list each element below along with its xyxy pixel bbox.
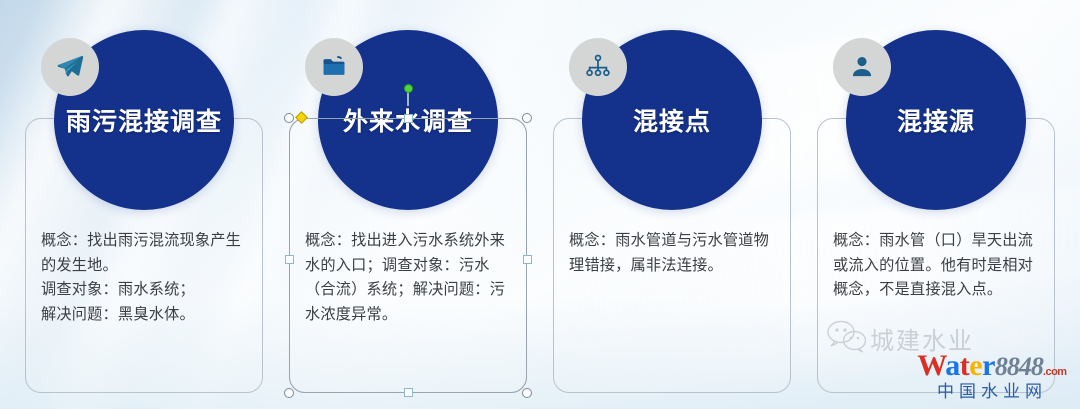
resize-handle-bottom-left[interactable] (284, 388, 294, 398)
card-body-text: 概念：找出雨污混流现象产生的发生地。 调查对象：雨水系统； 解决问题：黑臭水体。 (41, 228, 253, 327)
resize-handle-top-left[interactable] (284, 113, 294, 123)
card-body-text: 概念：雨水管（口）旱天出流或流入的位置。他有时是相对概念，不是直接混入点。 (833, 228, 1045, 302)
card-title: 混接源 (846, 102, 1026, 138)
user-icon (833, 38, 891, 96)
card-external-water-survey[interactable]: 外来水调查 概念：找出进入污水系统外来水的入口；调查对象：污水（合流）系统；解决… (283, 0, 533, 409)
resize-handle-bottom-right[interactable] (522, 388, 532, 398)
card-title: 混接点 (582, 102, 762, 138)
rotation-stem (407, 92, 408, 106)
card-row: 雨污混接调查 概念：找出雨污混流现象产生的发生地。 调查对象：雨水系统； 解决问… (0, 0, 1080, 409)
card-body-text: 概念：雨水管道与污水管道物理错接，属非法连接。 (569, 228, 781, 277)
card-mixed-connection-source[interactable]: 混接源 概念：雨水管（口）旱天出流或流入的位置。他有时是相对概念，不是直接混入点… (811, 0, 1061, 409)
card-mixed-connection-point[interactable]: 混接点 概念：雨水管道与污水管道物理错接，属非法连接。 (547, 0, 797, 409)
rotation-handle[interactable] (404, 84, 413, 93)
resize-handle-top-center[interactable] (404, 114, 413, 123)
sitemap-icon (569, 38, 627, 96)
paper-plane-icon (41, 38, 99, 96)
card-body-text: 概念：找出进入污水系统外来水的入口；调查对象：污水（合流）系统；解决问题：污水浓… (305, 228, 517, 327)
resize-handle-middle-left[interactable] (285, 255, 294, 264)
slide-canvas: 雨污混接调查 概念：找出雨污混流现象产生的发生地。 调查对象：雨水系统； 解决问… (0, 0, 1080, 409)
resize-handle-top-right[interactable] (522, 113, 532, 123)
card-title: 雨污混接调查 (54, 102, 234, 138)
card-rain-sewage-mixed-connection-survey[interactable]: 雨污混接调查 概念：找出雨污混流现象产生的发生地。 调查对象：雨水系统； 解决问… (19, 0, 269, 409)
resize-handle-bottom-center[interactable] (404, 388, 413, 397)
folder-icon (305, 38, 363, 96)
resize-handle-middle-right[interactable] (523, 255, 532, 264)
